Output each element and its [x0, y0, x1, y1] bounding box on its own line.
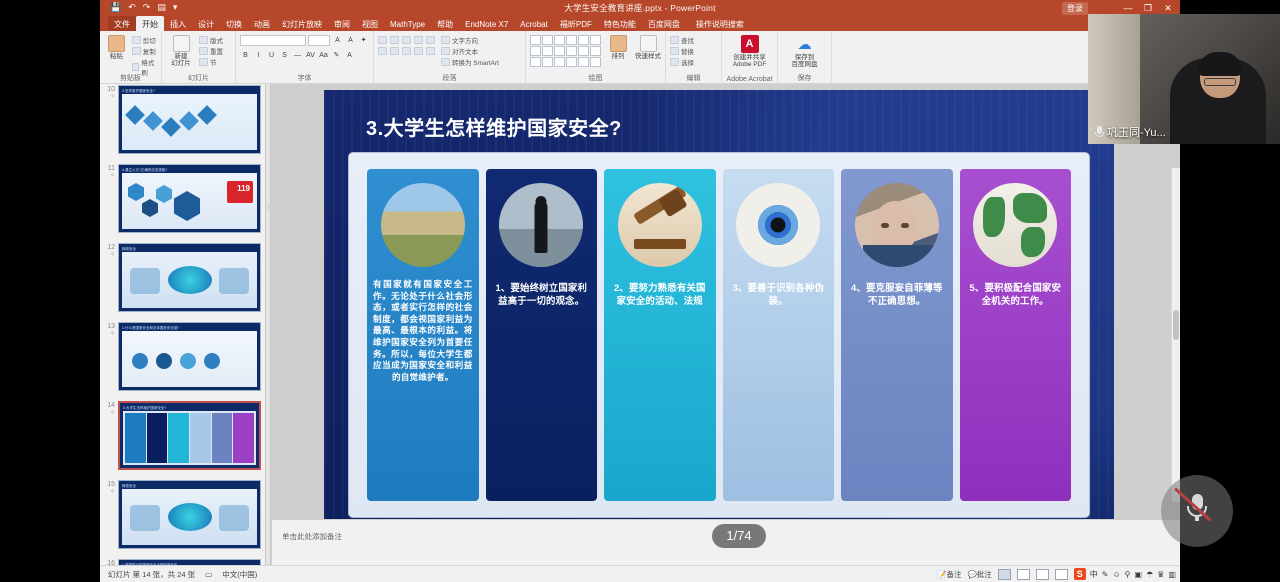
create-share-pdf-label: 创建并共享Adobe PDF: [733, 54, 767, 68]
mute-microphone-button[interactable]: [1161, 475, 1233, 547]
thumbnail-slide-14[interactable]: 14✧ 3.大学生怎样维护国家安全?: [100, 398, 265, 477]
thumbnail-preview[interactable]: 网络安全: [118, 243, 261, 312]
columns-icon[interactable]: [426, 47, 435, 55]
ribbon-group-clipboard: 粘贴 剪切 复制 格式刷 剪贴板: [100, 31, 162, 84]
decrease-indent-icon[interactable]: [402, 36, 411, 44]
shape-triangle-icon[interactable]: [542, 46, 553, 56]
copy-icon: [132, 47, 141, 55]
shape-textbox-icon[interactable]: [542, 35, 553, 45]
ime-menu-icon[interactable]: ▥: [1168, 570, 1176, 579]
thumbnail-preview[interactable]: 1.什么是国家安全和总体国家安全观?: [118, 322, 261, 391]
tab-acrobat[interactable]: Acrobat: [514, 16, 554, 31]
shape-rect-icon[interactable]: [530, 35, 541, 45]
slideshow-view-button[interactable]: [1055, 569, 1068, 580]
thumbnail-number: 15✧: [102, 480, 118, 495]
slide-card-2[interactable]: 1、要始终树立国家利益高于一切的观念。: [486, 169, 598, 501]
shape-gallery[interactable]: [530, 33, 601, 67]
shape-line-icon[interactable]: [554, 35, 565, 45]
layout-button[interactable]: 版式: [199, 35, 223, 45]
decrease-font-size-icon[interactable]: A: [345, 35, 356, 46]
create-share-pdf-button[interactable]: A 创建并共享Adobe PDF: [726, 33, 773, 68]
ime-mic-icon[interactable]: ⚲: [1125, 570, 1131, 579]
card-image-4: [736, 183, 820, 267]
tell-me-search[interactable]: 操作说明搜索: [686, 16, 750, 31]
tab-file[interactable]: 文件: [108, 16, 136, 31]
thumbnail-caption: 3.大学生怎样维护国家安全?: [123, 405, 256, 410]
tab-endnote[interactable]: EndNote X7: [459, 16, 514, 31]
ime-emoji-icon[interactable]: ☺: [1113, 570, 1121, 579]
section-icon: [199, 58, 208, 66]
ime-pen-icon[interactable]: ✎: [1102, 570, 1109, 579]
card-image-5: [855, 183, 939, 267]
card-text-3: 2、要努力熟悉有关国家安全的活动、法规: [604, 281, 716, 307]
copy-button[interactable]: 复制: [132, 46, 157, 56]
slide-card-4[interactable]: 3、要善于识别各种伪装。: [723, 169, 835, 501]
line-spacing-icon[interactable]: [426, 36, 435, 44]
scissors-icon: [132, 36, 141, 44]
card-image-3: [618, 183, 702, 267]
font-name-input[interactable]: [240, 35, 306, 46]
new-slide-label: 新建幻灯片: [171, 53, 191, 67]
scrollbar-thumb[interactable]: [1173, 310, 1179, 340]
ime-toolbox-icon[interactable]: ♛: [1157, 570, 1164, 579]
thumbnail-preview[interactable]: 网络安全: [118, 480, 261, 549]
ribbon-group-drawing: 排列 快速样式 绘图: [526, 31, 666, 84]
smartart-icon: [441, 58, 450, 66]
align-right-icon[interactable]: [402, 47, 411, 55]
tab-view[interactable]: 视图: [356, 16, 384, 31]
thumbnail-caption: 网络安全: [122, 246, 257, 251]
tab-mathtype[interactable]: MathType: [384, 16, 431, 31]
text-direction-button[interactable]: 文字方向: [441, 35, 499, 45]
vertical-scrollbar[interactable]: [1171, 168, 1180, 502]
notes-placeholder[interactable]: 单击此处添加备注: [282, 531, 342, 542]
underline-button[interactable]: U: [266, 50, 277, 61]
slide-canvas-area[interactable]: 3.大学生怎样维护国家安全? 有国家就有国家安全工作。无论处于什么社会形态，或者…: [272, 84, 1180, 565]
thumbnail-slide-16[interactable]: 16✧ 1.我国现行的国家安全法律制度体系: [100, 556, 265, 565]
find-button[interactable]: 查找: [670, 35, 694, 45]
ribbon-group-font: A A ✦ B I U S — AV Aa ✎ A: [236, 31, 374, 84]
new-slide-button[interactable]: 新建幻灯片: [166, 33, 196, 67]
participant-name-label: 巩玉同-Yu...: [1094, 124, 1166, 140]
pane-splitter[interactable]: ⋮: [265, 84, 271, 565]
tab-animations[interactable]: 动画: [248, 16, 276, 31]
section-button[interactable]: 节: [199, 57, 223, 67]
shape-elbow-icon[interactable]: [554, 46, 565, 56]
slide-content-panel: 有国家就有国家安全工作。无论处于什么社会形态，或者实行怎样的社会制度，都会视国家…: [348, 152, 1090, 518]
group-label-save: 保存: [778, 73, 831, 83]
language-indicator[interactable]: 中文(中国): [222, 569, 257, 580]
italic-button[interactable]: I: [253, 50, 264, 61]
group-label-adobe: Adobe Acrobat: [722, 76, 777, 83]
tab-insert[interactable]: 插入: [164, 16, 192, 31]
thumbnail-caption: 4.遇生火灾?正确的应急措施?: [122, 167, 257, 172]
video-person-hair: [1198, 52, 1242, 76]
ribbon-group-slides: 新建幻灯片 版式 重置 节 幻灯片: [162, 31, 236, 84]
ribbon-group-save: ☁ 保存到百度网盘 保存: [778, 31, 832, 84]
reset-button[interactable]: 重置: [199, 46, 223, 56]
tab-home[interactable]: 开始: [136, 16, 164, 31]
reading-view-button[interactable]: [1036, 569, 1049, 580]
title-bar: 💾 ↶ ↷ ▤ ▾ 大学生安全教育讲座.pptx - PowerPoint 登录…: [100, 0, 1180, 16]
thumbnail-number: 13✧: [102, 322, 118, 337]
shape-square-icon[interactable]: [578, 35, 589, 45]
thumbnail-caption: 网络安全: [122, 483, 257, 488]
thumbnail-preview[interactable]: 4.遇生火灾?正确的应急措施? 119: [118, 164, 261, 233]
shadow-button[interactable]: S: [279, 50, 290, 61]
slide-card-6[interactable]: 5、要积极配合国家安全机关的工作。: [960, 169, 1072, 501]
thumbnail-number: 12✧: [102, 243, 118, 258]
shape-roundrect-icon[interactable]: [530, 46, 541, 56]
layout-icon: [199, 36, 208, 44]
tab-transitions[interactable]: 切换: [220, 16, 248, 31]
reset-icon: [199, 47, 208, 55]
tab-foxit-pdf[interactable]: 福昕PDF: [554, 16, 598, 31]
thumbnail-slide-12[interactable]: 12✧ 网络安全: [100, 240, 265, 319]
strikethrough-button[interactable]: —: [292, 50, 303, 61]
slide-sorter-view-button[interactable]: [1017, 569, 1030, 580]
change-case-button[interactable]: Aa: [318, 50, 329, 61]
new-slide-icon: [173, 35, 190, 52]
save-to-baidu-label: 保存到百度网盘: [792, 54, 818, 68]
thumbnail-slide-13[interactable]: 13✧ 1.什么是国家安全和总体国家安全观?: [100, 319, 265, 398]
ime-tray[interactable]: S 中 ✎ ☺ ⚲ ▣ ☂ ♛ ▥: [1074, 568, 1176, 580]
thumbnail-caption: 1.什么是国家安全和总体国家安全观?: [122, 325, 257, 330]
microphone-icon: [1094, 126, 1105, 139]
slide-card-3[interactable]: 2、要努力熟悉有关国家安全的活动、法规: [604, 169, 716, 501]
card-image-6: [973, 183, 1057, 267]
shape-chevron-icon[interactable]: [590, 46, 601, 56]
group-label-clipboard: 剪贴板: [100, 73, 161, 83]
work-area: 10✧ 3.怎样维护国家安全? 11✧: [100, 84, 1180, 565]
align-text-icon: [441, 47, 450, 55]
tab-slideshow[interactable]: 幻灯片放映: [276, 16, 328, 31]
arrange-icon: [610, 35, 627, 52]
shape-connector-icon[interactable]: [566, 46, 577, 56]
quick-styles-label: 快速样式: [635, 53, 661, 60]
tab-help[interactable]: 帮助: [431, 16, 459, 31]
thumbnail-slide-15[interactable]: 15✧ 网络安全: [100, 477, 265, 556]
quick-styles-button[interactable]: 快速样式: [635, 33, 661, 60]
shape-star-icon[interactable]: [530, 57, 541, 67]
card-text-5: 4、要克服妄自菲薄等不正确思想。: [841, 281, 953, 307]
shape-circle-icon[interactable]: [590, 35, 601, 45]
paste-label: 粘贴: [110, 53, 123, 60]
shape-freeform-icon[interactable]: [566, 57, 577, 67]
tab-review[interactable]: 审阅: [328, 16, 356, 31]
thumbnail-slide-11[interactable]: 11✧ 4.遇生火灾?正确的应急措施? 119: [100, 161, 265, 240]
thumbnail-caption: 3.怎样维护国家安全?: [122, 88, 257, 93]
text-direction-icon: [441, 36, 450, 44]
select-button[interactable]: 选择: [670, 57, 694, 67]
ime-chinese-icon[interactable]: 中: [1090, 569, 1098, 580]
group-label-paragraph: 段落: [374, 73, 525, 83]
card-text-4: 3、要善于识别各种伪装。: [723, 281, 835, 307]
select-icon: [670, 58, 679, 66]
slide-thumbnail-pane[interactable]: 10✧ 3.怎样维护国家安全? 11✧: [100, 84, 265, 565]
paste-button[interactable]: 粘贴: [104, 33, 129, 60]
thumbnail-number: 11✧: [102, 164, 118, 179]
page-indicator: 1/74: [712, 524, 766, 548]
card-text-6: 5、要积极配合国家安全机关的工作。: [960, 281, 1072, 307]
slide-counter: 幻灯片 第 14 张，共 24 张: [108, 569, 195, 580]
normal-view-button[interactable]: [998, 569, 1011, 580]
window-title: 大学生安全教育讲座.pptx - PowerPoint: [100, 2, 1180, 14]
quick-styles-icon: [640, 35, 657, 52]
bold-button[interactable]: B: [240, 50, 251, 61]
arrange-button[interactable]: 排列: [605, 33, 631, 60]
card-image-1: [381, 183, 465, 267]
search-icon: [670, 36, 679, 44]
shape-brace-right-icon[interactable]: [590, 57, 601, 67]
thumbnail-number: 14✧: [102, 401, 118, 416]
bullets-icon[interactable]: [378, 36, 387, 44]
ime-screenshot-icon[interactable]: ▣: [1135, 570, 1143, 579]
notes-pane[interactable]: 单击此处添加备注 1/74: [272, 519, 1180, 565]
replace-button[interactable]: 替换: [670, 46, 694, 56]
group-label-drawing: 绘图: [526, 73, 665, 83]
paste-icon: [108, 35, 125, 52]
clear-formatting-icon[interactable]: ✦: [358, 35, 369, 46]
replace-icon: [670, 47, 679, 55]
cut-button[interactable]: 剪切: [132, 35, 157, 45]
ribbon-body: 粘贴 剪切 复制 格式刷 剪贴板 新建幻灯片: [100, 31, 1180, 84]
align-text-button[interactable]: 对齐文本: [441, 46, 499, 56]
slide-title[interactable]: 3.大学生怎样维护国家安全?: [366, 112, 622, 141]
brush-icon: [132, 63, 140, 71]
participant-video-tile[interactable]: 巩玉同-Yu...: [1088, 14, 1280, 144]
ribbon-group-editing: 查找 替换 选择 编辑: [666, 31, 722, 84]
group-label-font: 字体: [236, 73, 373, 83]
convert-smartart-button[interactable]: 转换为 SmartArt: [441, 57, 499, 67]
participant-name-text: 巩玉同-Yu...: [1107, 124, 1166, 140]
character-spacing-button[interactable]: AV: [305, 50, 316, 61]
group-label-editing: 编辑: [666, 73, 721, 83]
thumbnail-slide-10[interactable]: 10✧ 3.怎样维护国家安全?: [100, 84, 265, 161]
shape-curve-icon[interactable]: [554, 57, 565, 67]
numbering-icon[interactable]: [390, 36, 399, 44]
ime-skin-icon[interactable]: ☂: [1146, 570, 1153, 579]
current-slide[interactable]: 3.大学生怎样维护国家安全? 有国家就有国家安全工作。无论处于什么社会形态，或者…: [324, 90, 1114, 536]
slide-card-5[interactable]: 4、要克服妄自菲薄等不正确思想。: [841, 169, 953, 501]
baidu-netdisk-icon: ☁: [796, 35, 814, 53]
splitter-handle-icon[interactable]: ⋮: [266, 204, 270, 211]
text-highlight-button[interactable]: ✎: [331, 50, 342, 61]
card-text-2: 1、要始终树立国家利益高于一切的观念。: [486, 281, 598, 307]
group-label-slides: 幻灯片: [162, 73, 235, 83]
justify-icon[interactable]: [414, 47, 423, 55]
shape-arrow-icon[interactable]: [566, 35, 577, 45]
increase-indent-icon[interactable]: [414, 36, 423, 44]
save-to-baidu-button[interactable]: ☁ 保存到百度网盘: [782, 33, 827, 68]
status-bar: 幻灯片 第 14 张，共 24 张 ▭ 中文(中国) 📝备注 💬批注 S 中 ✎…: [100, 565, 1180, 582]
card-image-2: [499, 183, 583, 267]
slide-card-1[interactable]: 有国家就有国家安全工作。无论处于什么社会形态，或者实行怎样的社会制度，都会视国家…: [367, 169, 479, 501]
font-size-input[interactable]: [308, 35, 330, 46]
font-color-button[interactable]: A: [344, 50, 355, 61]
ribbon-tabs[interactable]: 文件 开始 插入 设计 切换 动画 幻灯片放映 审阅 视图 MathType 帮…: [100, 16, 1180, 31]
arrange-label: 排列: [612, 53, 625, 60]
shape-callout-icon[interactable]: [542, 57, 553, 67]
adobe-acrobat-icon: A: [741, 35, 759, 53]
card-text-1: 有国家就有国家安全工作。无论处于什么社会形态，或者实行怎样的社会制度，都会视国家…: [367, 279, 479, 383]
notes-toggle-button[interactable]: 📝备注: [937, 569, 961, 580]
sign-in-label[interactable]: 登录: [1062, 2, 1088, 15]
increase-font-size-icon[interactable]: A: [332, 35, 343, 46]
ribbon-group-adobe: A 创建并共享Adobe PDF Adobe Acrobat: [722, 31, 778, 84]
thumbnail-preview-selected[interactable]: 3.大学生怎样维护国家安全?: [118, 401, 261, 470]
comments-toggle-button[interactable]: 💬批注: [967, 569, 991, 580]
align-center-icon[interactable]: [390, 47, 399, 55]
tab-features[interactable]: 特色功能: [598, 16, 642, 31]
screen-root: 💾 ↶ ↷ ▤ ▾ 大学生安全教育讲座.pptx - PowerPoint 登录…: [0, 0, 1280, 582]
tab-baidu-netdisk[interactable]: 百度网盘: [642, 16, 686, 31]
thumbnail-number: 10✧: [102, 85, 118, 100]
accessibility-icon[interactable]: ▭: [205, 570, 212, 579]
shape-pentagon-icon[interactable]: [578, 46, 589, 56]
shape-brace-left-icon[interactable]: [578, 57, 589, 67]
thumbnail-preview[interactable]: 3.怎样维护国家安全?: [118, 85, 261, 154]
ribbon-group-paragraph: 文字方向 对齐文本 转换为 SmartArt 段落: [374, 31, 526, 84]
powerpoint-window: 💾 ↶ ↷ ▤ ▾ 大学生安全教育讲座.pptx - PowerPoint 登录…: [100, 0, 1180, 582]
video-person-glasses: [1204, 78, 1236, 86]
align-left-icon[interactable]: [378, 47, 387, 55]
sogou-ime-icon[interactable]: S: [1074, 568, 1086, 580]
tab-design[interactable]: 设计: [192, 16, 220, 31]
